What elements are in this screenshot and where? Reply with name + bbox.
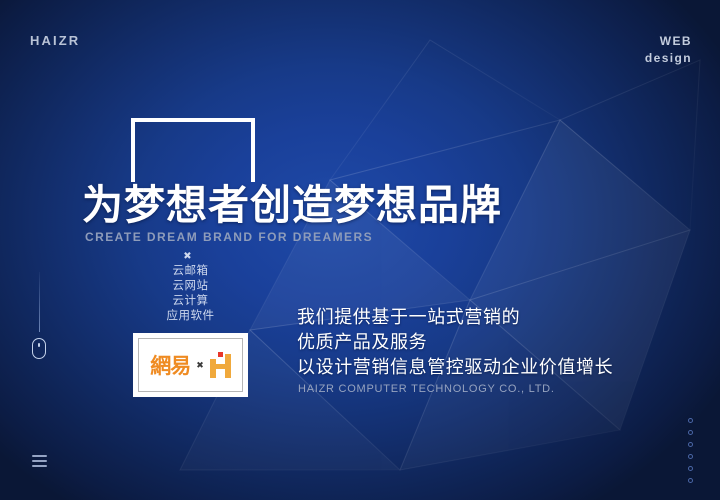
- pagination-dot[interactable]: [688, 454, 693, 459]
- list-item[interactable]: 云计算: [133, 294, 248, 309]
- hamburger-bar: [32, 455, 47, 457]
- mouse-scroll-icon[interactable]: [32, 338, 46, 359]
- list-item[interactable]: 应用软件: [133, 309, 248, 324]
- red-flag-accent: [218, 352, 223, 357]
- body-line: 以设计营销信息管控驱动企业价值增长: [297, 355, 613, 380]
- hero-banner: HAIZR WEB design 为梦想者创造梦想品牌 CREATE DREAM…: [0, 0, 720, 500]
- body-line: 我们提供基于一站式营销的: [297, 305, 613, 330]
- brand-logo[interactable]: HAIZR: [30, 33, 80, 48]
- web-design-label: WEB design: [645, 33, 692, 67]
- list-item[interactable]: 云网站: [133, 279, 248, 294]
- body-copy: 我们提供基于一站式营销的 优质产品及服务 以设计营销信息管控驱动企业价值增长: [297, 305, 613, 380]
- page-subtitle: CREATE DREAM BRAND FOR DREAMERS: [85, 230, 373, 244]
- pagination-dot[interactable]: [688, 478, 693, 483]
- partner-logo-card-inner: 網易 ✖: [138, 338, 243, 392]
- netease-logo: 網易: [150, 350, 190, 380]
- pagination-dot[interactable]: [688, 466, 693, 471]
- page-title: 为梦想者创造梦想品牌: [82, 182, 502, 228]
- decorative-bracket-frame: [131, 118, 255, 182]
- hamburger-bar: [32, 460, 47, 462]
- services-list: 云邮箱 云网站 云计算 应用软件: [133, 264, 248, 324]
- services-cross-icon: ✖: [183, 252, 192, 261]
- web-design-line-2: design: [645, 50, 692, 67]
- body-line: 优质产品及服务: [297, 330, 613, 355]
- slide-pagination-dots[interactable]: [688, 418, 693, 490]
- list-item[interactable]: 云邮箱: [133, 264, 248, 279]
- scroll-rail-line: [39, 272, 40, 332]
- hamburger-menu-icon[interactable]: [32, 455, 47, 467]
- pagination-dot[interactable]: [688, 418, 693, 423]
- partnership-cross-icon: ✖: [196, 360, 204, 371]
- hamburger-bar: [32, 465, 47, 467]
- partner-logo-card: 網易 ✖: [133, 333, 248, 397]
- haizr-h-logo-icon: [210, 352, 231, 378]
- pagination-dot[interactable]: [688, 442, 693, 447]
- web-design-line-1: WEB: [645, 33, 692, 50]
- company-legal-name: HAIZR COMPUTER TECHNOLOGY CO., LTD.: [298, 383, 555, 395]
- pagination-dot[interactable]: [688, 430, 693, 435]
- polygon-background-decoration: [0, 0, 720, 500]
